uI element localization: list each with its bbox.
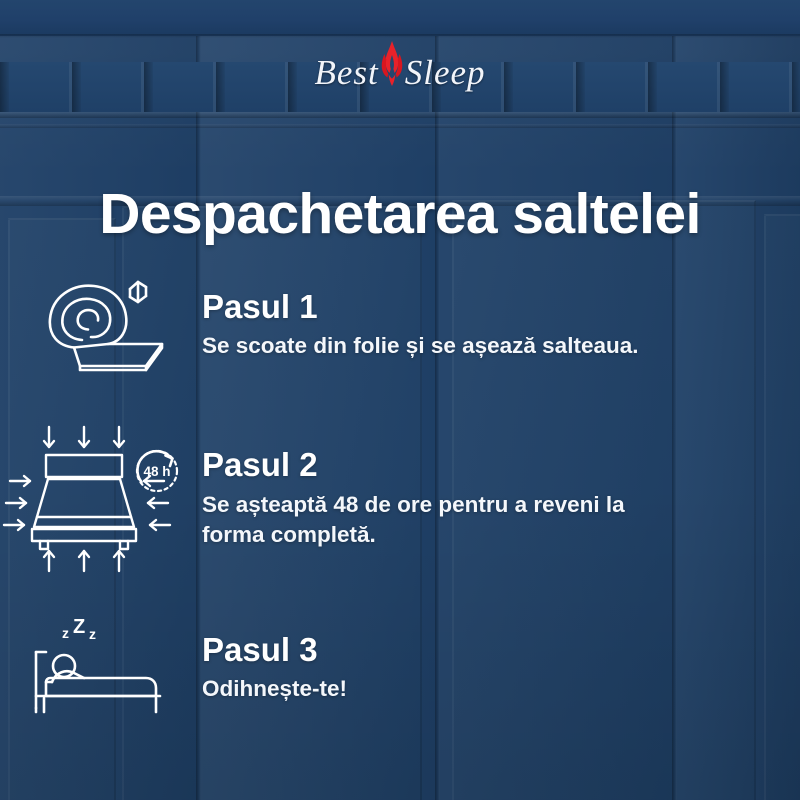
rolled-mattress-arrow-icon: [0, 270, 196, 374]
brand-word-sleep: Sleep: [405, 53, 486, 93]
steps-list: Pasul 1 Se scoate din folie și se așează…: [0, 262, 800, 723]
cornice-rail-upper: [0, 112, 800, 118]
mattress-expanding-48h-icon: 48 h: [0, 419, 196, 579]
step-text-block-2: Pasul 2 Se așteaptă 48 de ore pentru a r…: [196, 447, 800, 549]
flame-icon: [377, 41, 407, 87]
cornice-rail-lower: [0, 124, 800, 128]
step-desc-2: Se așteaptă 48 de ore pentru a reveni la…: [202, 490, 682, 550]
zzz-large: Z: [73, 616, 85, 638]
cornice-shadow: [0, 34, 800, 38]
cornice-top-moulding: [0, 0, 800, 36]
step-text-block-3: Pasul 3 Odihnește-te!: [196, 632, 800, 704]
step-item-1: Pasul 1 Se scoate din folie și se așează…: [0, 262, 800, 382]
step-title-1: Pasul 1: [202, 289, 800, 325]
page-title: Despachetarea saltelei: [0, 181, 800, 247]
zzz-small-left: z: [62, 625, 69, 641]
step-title-2: Pasul 2: [202, 447, 800, 483]
step-title-3: Pasul 3: [202, 632, 800, 668]
poster-canvas: Best Sleep Despachetarea saltelei: [0, 0, 800, 800]
step-desc-3: Odihnește-te!: [202, 674, 682, 704]
zzz-small-right: z: [89, 626, 96, 642]
person-sleeping-bed-icon: z Z z: [0, 616, 196, 720]
step-item-2: 48 h Pasul 2 Se așteaptă 48 de ore pentr…: [0, 406, 800, 591]
badge-48h-label: 48 h: [143, 464, 170, 479]
step-item-3: z Z z: [0, 613, 800, 723]
brand-logo: Best Sleep: [0, 44, 800, 102]
step-desc-1: Se scoate din folie și se așează salteau…: [202, 331, 682, 361]
step-text-block-1: Pasul 1 Se scoate din folie și se așează…: [196, 283, 800, 361]
brand-word-best: Best: [314, 53, 378, 93]
